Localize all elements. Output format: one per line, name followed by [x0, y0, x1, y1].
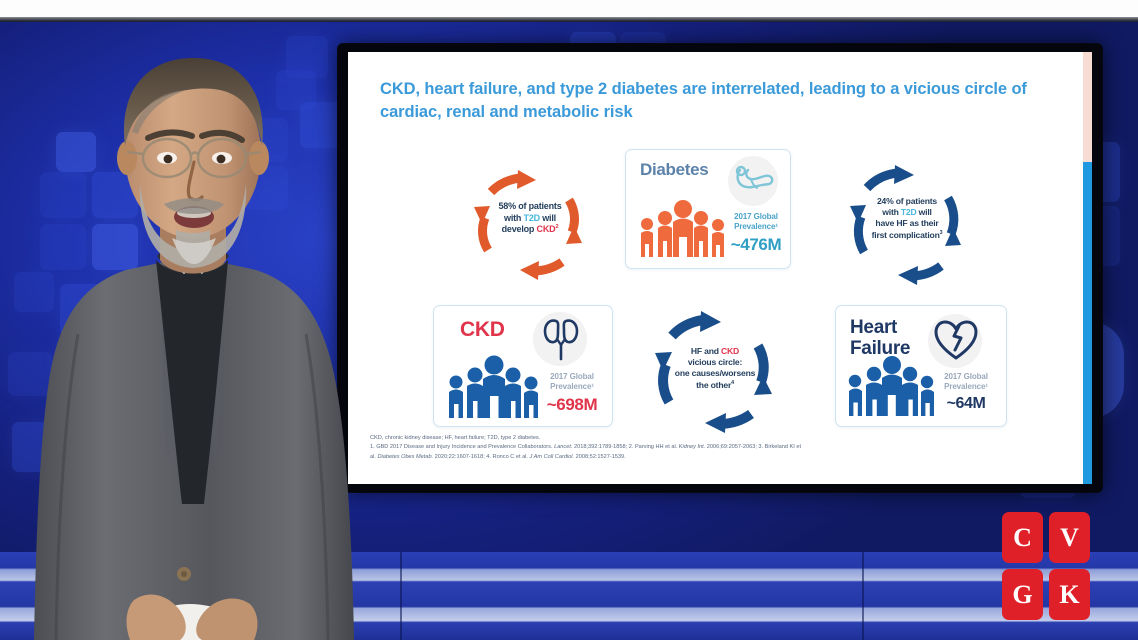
- circle-bc-text: HF and CKD vicious circle: one causes/wo…: [649, 346, 781, 391]
- logo-letter-c: C: [1002, 512, 1043, 563]
- footnote-references-line2: al. Diabetes Obes Metab. 2020;22:1607-16…: [370, 453, 1060, 462]
- diabetes-prevalence: 2017 Global Prevalence¹ ~476M: [726, 212, 786, 255]
- circle-tl-ref: 2: [555, 224, 558, 230]
- kidneys-icon: [542, 317, 580, 361]
- hf-title-line1: Heart: [850, 317, 897, 338]
- circle-tl-line3a: develop: [502, 224, 537, 234]
- presentation-slide: CKD, heart failure, and type 2 diabetes …: [348, 52, 1092, 484]
- accent-bar-pink: [1083, 52, 1092, 162]
- circle-diagram-hf-ckd-vicious: HF and CKD vicious circle: one causes/wo…: [641, 310, 789, 434]
- diabetes-prevalence-value: ~476M: [726, 234, 786, 255]
- circle-tr-line2a: with: [882, 207, 901, 217]
- circle-tr-line3: have HF as their: [875, 218, 938, 228]
- ref1-journal2: Kidney Int.: [679, 444, 705, 450]
- diabetes-prevalence-label: 2017 Global Prevalence¹: [726, 212, 786, 232]
- ref1-b: 2018;392:1789-1858; 2. Parving HH et al.: [572, 444, 678, 450]
- video-frame: CKD, heart failure, and type 2 diabetes …: [0, 0, 1138, 640]
- ref2-journal1: Diabetes Obes Metab.: [377, 454, 433, 460]
- ref2-b: 2020;22:1607-1618; 4. Ronco C et al.: [433, 454, 529, 460]
- people-group-icon-hf: [846, 354, 936, 418]
- circle-tl-line3-highlight: CKD: [537, 224, 556, 234]
- ref2-c: 2008;52:1527-1539.: [574, 454, 626, 460]
- circle-tl-line1: 58% of patients: [498, 201, 561, 211]
- presenter-head: [117, 58, 269, 268]
- presenter-figure: [14, 34, 374, 640]
- circle-bc-line4: the other: [696, 380, 731, 390]
- circle-tl-line2b: will: [540, 213, 556, 223]
- circle-tl-line2-highlight: T2D: [524, 213, 540, 223]
- circle-tl-line2a: with: [504, 213, 524, 223]
- slide-title: CKD, heart failure, and type 2 diabetes …: [380, 78, 1040, 125]
- circle-diagram-t2d-to-ckd: 58% of patients with T2D will develop CK…: [462, 170, 598, 280]
- circle-bc-line1a: HF and: [691, 346, 721, 356]
- ckd-prevalence-value: ~698M: [539, 394, 605, 415]
- hf-prevalence: 2017 Global Prevalence¹ ~64M: [934, 372, 998, 414]
- logo-letter-g: G: [1002, 569, 1043, 620]
- footnote-abbreviations: CKD, chronic kidney disease; HF, heart f…: [370, 434, 1060, 443]
- circle-tr-text: 24% of patients with T2D will have HF as…: [843, 196, 971, 241]
- ref1-c: 2006;69:2057-2063; 3. Birkeland KI et: [705, 444, 801, 450]
- circle-tl-text: 58% of patients with T2D will develop CK…: [470, 201, 590, 236]
- circle-tr-line2b: will: [916, 207, 931, 217]
- broken-heart-icon: [934, 320, 978, 362]
- pancreas-icon: [734, 164, 774, 198]
- slide-accent-strip: [1083, 52, 1092, 484]
- hf-prevalence-value: ~64M: [934, 394, 998, 414]
- letterbox-edge: [0, 17, 1138, 22]
- card-diabetes-title: Diabetes: [640, 160, 708, 180]
- circle-bc-ref: 4: [731, 380, 734, 386]
- card-heart-failure-title: Heart Failure: [850, 318, 910, 359]
- people-group-icon-diabetes: [638, 198, 726, 260]
- slide-footnotes: CKD, chronic kidney disease; HF, heart f…: [370, 434, 1060, 462]
- logo-letter-k: K: [1049, 569, 1090, 620]
- ref1-a: 1. GBD 2017 Disease and Injury Incidence…: [370, 444, 554, 450]
- ref1-journal1: Lancet.: [554, 444, 572, 450]
- hf-prevalence-label: 2017 Global Prevalence¹: [934, 372, 998, 392]
- circle-bc-line2: vicious circle:: [688, 357, 742, 367]
- cvgk-logo[interactable]: C V G K: [1002, 512, 1090, 620]
- card-ckd: CKD: [433, 305, 613, 427]
- circle-bc-line1-highlight: CKD: [721, 346, 739, 356]
- circle-tr-line1: 24% of patients: [877, 196, 937, 206]
- circle-bc-line3: one causes/worsens: [675, 368, 755, 378]
- card-heart-failure: Heart Failure: [835, 305, 1007, 427]
- accent-bar-blue: [1083, 162, 1092, 484]
- circle-tr-line2-highlight: T2D: [901, 207, 917, 217]
- footnote-references-line1: 1. GBD 2017 Disease and Injury Incidence…: [370, 443, 1060, 452]
- circle-tr-line4: first complication: [872, 230, 940, 240]
- circle-tr-ref: 3: [940, 230, 943, 236]
- ref2-journal2: J Am Coll Cardiol.: [530, 454, 575, 460]
- card-ckd-title: CKD: [460, 318, 505, 342]
- ckd-prevalence-label: 2017 Global Prevalence¹: [539, 372, 605, 392]
- people-group-icon-ckd: [446, 354, 540, 420]
- card-diabetes: Diabetes: [625, 149, 791, 269]
- logo-letter-v: V: [1049, 512, 1090, 563]
- letterbox-top-bar: [0, 0, 1138, 17]
- presenter-suit: [34, 247, 354, 640]
- circle-diagram-t2d-to-hf: 24% of patients with T2D will have HF as…: [837, 164, 977, 286]
- ckd-prevalence: 2017 Global Prevalence¹ ~698M: [539, 372, 605, 415]
